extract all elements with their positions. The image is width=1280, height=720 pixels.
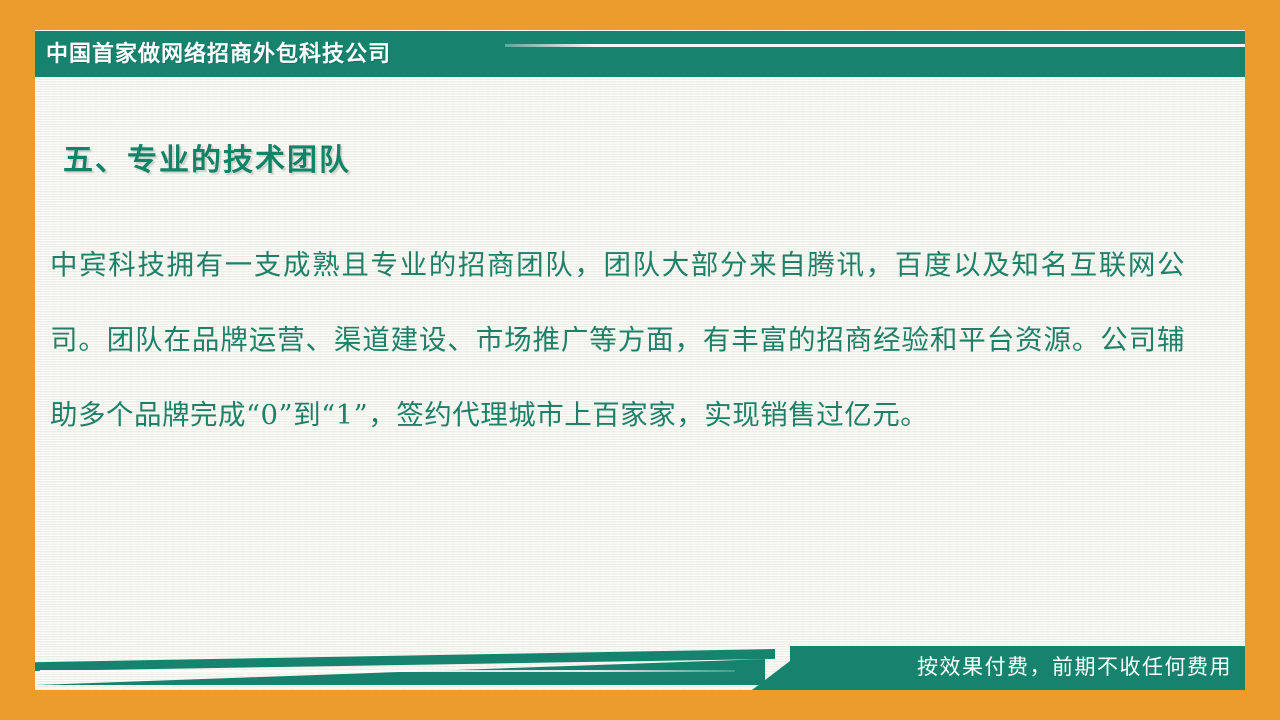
footer-divider-line bbox=[40, 670, 735, 672]
frame-border-left bbox=[0, 0, 35, 720]
header-banner-text: 中国首家做网络招商外包科技公司 bbox=[46, 34, 391, 74]
footer-tagline: 按效果付费，前期不收任何费用 bbox=[917, 651, 1232, 685]
frame-border-bottom bbox=[0, 690, 1280, 720]
body-paragraph: 中宾科技拥有一支成熟且专业的招商团队，团队大部分来自腾讯，百度以及知名互联网公司… bbox=[50, 228, 1185, 453]
frame-border-right bbox=[1245, 0, 1280, 720]
section-title: 五、专业的技术团队 bbox=[63, 135, 351, 179]
frame-border-top bbox=[0, 0, 1280, 30]
presentation-slide: 中国首家做网络招商外包科技公司 五、专业的技术团队 中宾科技拥有一支成熟且专业的… bbox=[0, 0, 1280, 720]
header-divider-line bbox=[505, 44, 1247, 47]
